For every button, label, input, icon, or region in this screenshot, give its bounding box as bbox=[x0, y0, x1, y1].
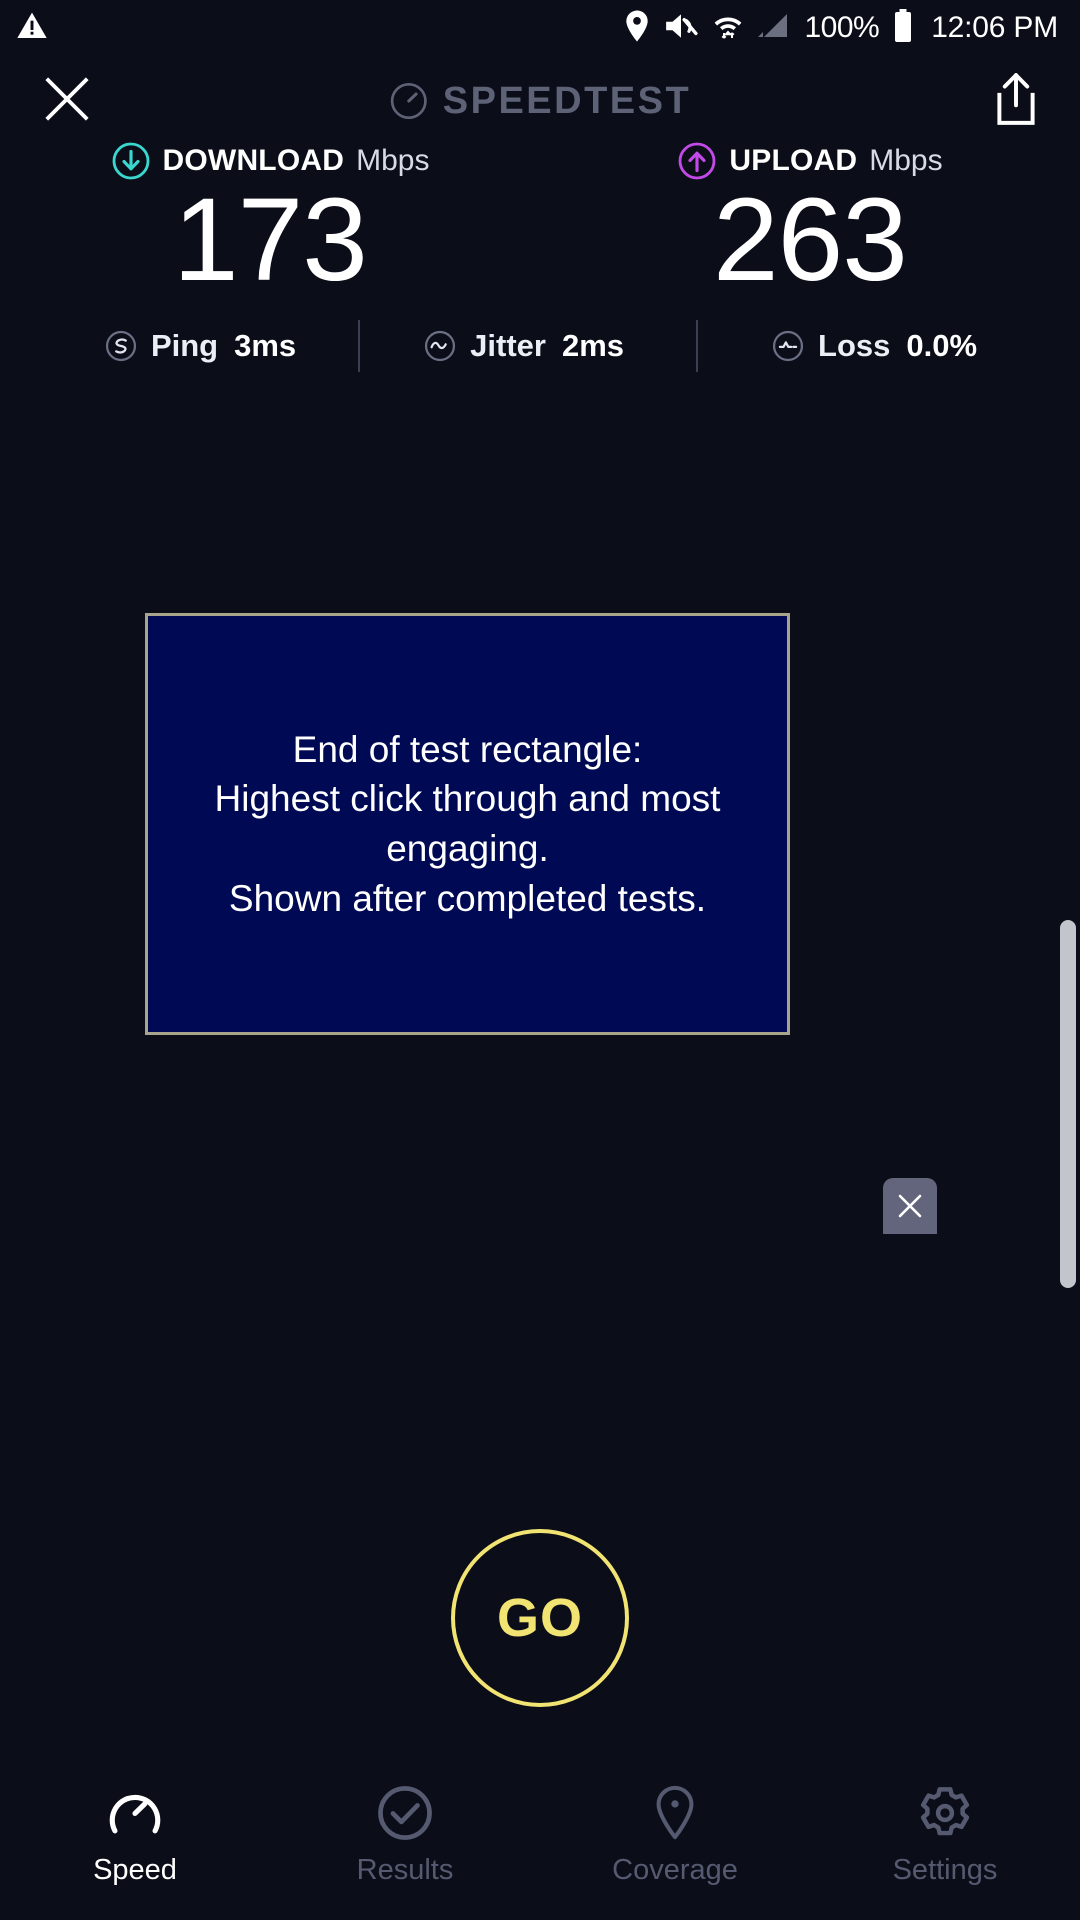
metric-loss-label: Loss bbox=[818, 328, 890, 364]
nav-item-results[interactable]: Results bbox=[270, 1770, 540, 1920]
nav-item-speed[interactable]: Speed bbox=[0, 1770, 270, 1920]
close-icon bbox=[40, 72, 94, 126]
go-button[interactable]: GO bbox=[451, 1529, 629, 1707]
status-bar: 100% 12:06 PM bbox=[0, 0, 1080, 56]
download-label: DOWNLOAD bbox=[163, 144, 345, 178]
wifi-icon bbox=[712, 10, 744, 47]
app-brand: SPEEDTEST bbox=[389, 80, 691, 123]
metric-ping: Ping 3ms bbox=[103, 328, 296, 364]
metric-ping-label: Ping bbox=[151, 328, 218, 364]
share-button[interactable] bbox=[992, 72, 1040, 131]
download-result: DOWNLOAD Mbps 173 bbox=[0, 140, 540, 300]
app-title: SPEEDTEST bbox=[443, 80, 691, 123]
speedometer-icon bbox=[389, 81, 429, 121]
metrics-row: Ping 3ms Jitter 2ms Loss 0.0% bbox=[0, 316, 1080, 376]
close-app-button[interactable] bbox=[40, 72, 94, 131]
arrow-up-circle-icon bbox=[677, 141, 717, 181]
ping-icon bbox=[103, 328, 139, 364]
warning-triangle-icon bbox=[16, 10, 48, 47]
upload-result: UPLOAD Mbps 263 bbox=[540, 140, 1080, 300]
upload-unit: Mbps bbox=[869, 144, 942, 178]
metric-loss-value: 0.0% bbox=[906, 328, 977, 364]
vertical-scrollbar[interactable] bbox=[1060, 920, 1076, 1288]
volume-muted-icon bbox=[664, 10, 698, 47]
ad-close-button[interactable] bbox=[883, 1178, 937, 1234]
test-results: DOWNLOAD Mbps 173 UPLOAD Mbps 263 bbox=[0, 140, 1080, 376]
metric-ping-value: 3ms bbox=[234, 328, 296, 364]
bottom-navigation: Speed Results Coverage Settings bbox=[0, 1770, 1080, 1920]
arrow-down-circle-icon bbox=[111, 141, 151, 181]
check-circle-icon bbox=[376, 1784, 434, 1842]
nav-label-results: Results bbox=[357, 1854, 454, 1887]
loss-icon bbox=[770, 328, 806, 364]
app-header: SPEEDTEST bbox=[0, 56, 1080, 146]
upload-label: UPLOAD bbox=[729, 144, 857, 178]
status-bar-right: 100% 12:06 PM bbox=[624, 9, 1058, 48]
nav-label-coverage: Coverage bbox=[612, 1854, 738, 1887]
close-icon bbox=[895, 1191, 925, 1221]
location-pin-icon bbox=[624, 10, 650, 47]
jitter-icon bbox=[422, 328, 458, 364]
metric-jitter-value: 2ms bbox=[562, 328, 624, 364]
advertisement-container: End of test rectangle: Highest click thr… bbox=[145, 613, 790, 1035]
metric-divider bbox=[696, 320, 698, 372]
speedometer-icon bbox=[106, 1784, 164, 1842]
upload-value: 263 bbox=[713, 180, 907, 300]
go-button-label: GO bbox=[497, 1587, 583, 1649]
gear-icon bbox=[916, 1784, 974, 1842]
download-value: 173 bbox=[173, 180, 367, 300]
download-unit: Mbps bbox=[356, 144, 429, 178]
battery-percentage: 100% bbox=[804, 13, 879, 43]
metric-divider bbox=[358, 320, 360, 372]
status-bar-left bbox=[16, 10, 48, 47]
nav-item-coverage[interactable]: Coverage bbox=[540, 1770, 810, 1920]
metric-jitter: Jitter 2ms bbox=[422, 328, 624, 364]
metric-loss: Loss 0.0% bbox=[770, 328, 977, 364]
nav-item-settings[interactable]: Settings bbox=[810, 1770, 1080, 1920]
status-bar-clock: 12:06 PM bbox=[931, 13, 1058, 43]
share-icon bbox=[992, 72, 1040, 126]
advertisement-text: End of test rectangle: Highest click thr… bbox=[148, 725, 787, 923]
battery-full-icon bbox=[893, 9, 913, 48]
nav-label-speed: Speed bbox=[93, 1854, 177, 1887]
speed-results-row: DOWNLOAD Mbps 173 UPLOAD Mbps 263 bbox=[0, 140, 1080, 300]
nav-label-settings: Settings bbox=[893, 1854, 998, 1887]
metric-jitter-label: Jitter bbox=[470, 328, 546, 364]
location-pin-icon bbox=[646, 1784, 704, 1842]
advertisement-banner[interactable]: End of test rectangle: Highest click thr… bbox=[145, 613, 790, 1035]
cellular-signal-icon bbox=[758, 10, 790, 47]
